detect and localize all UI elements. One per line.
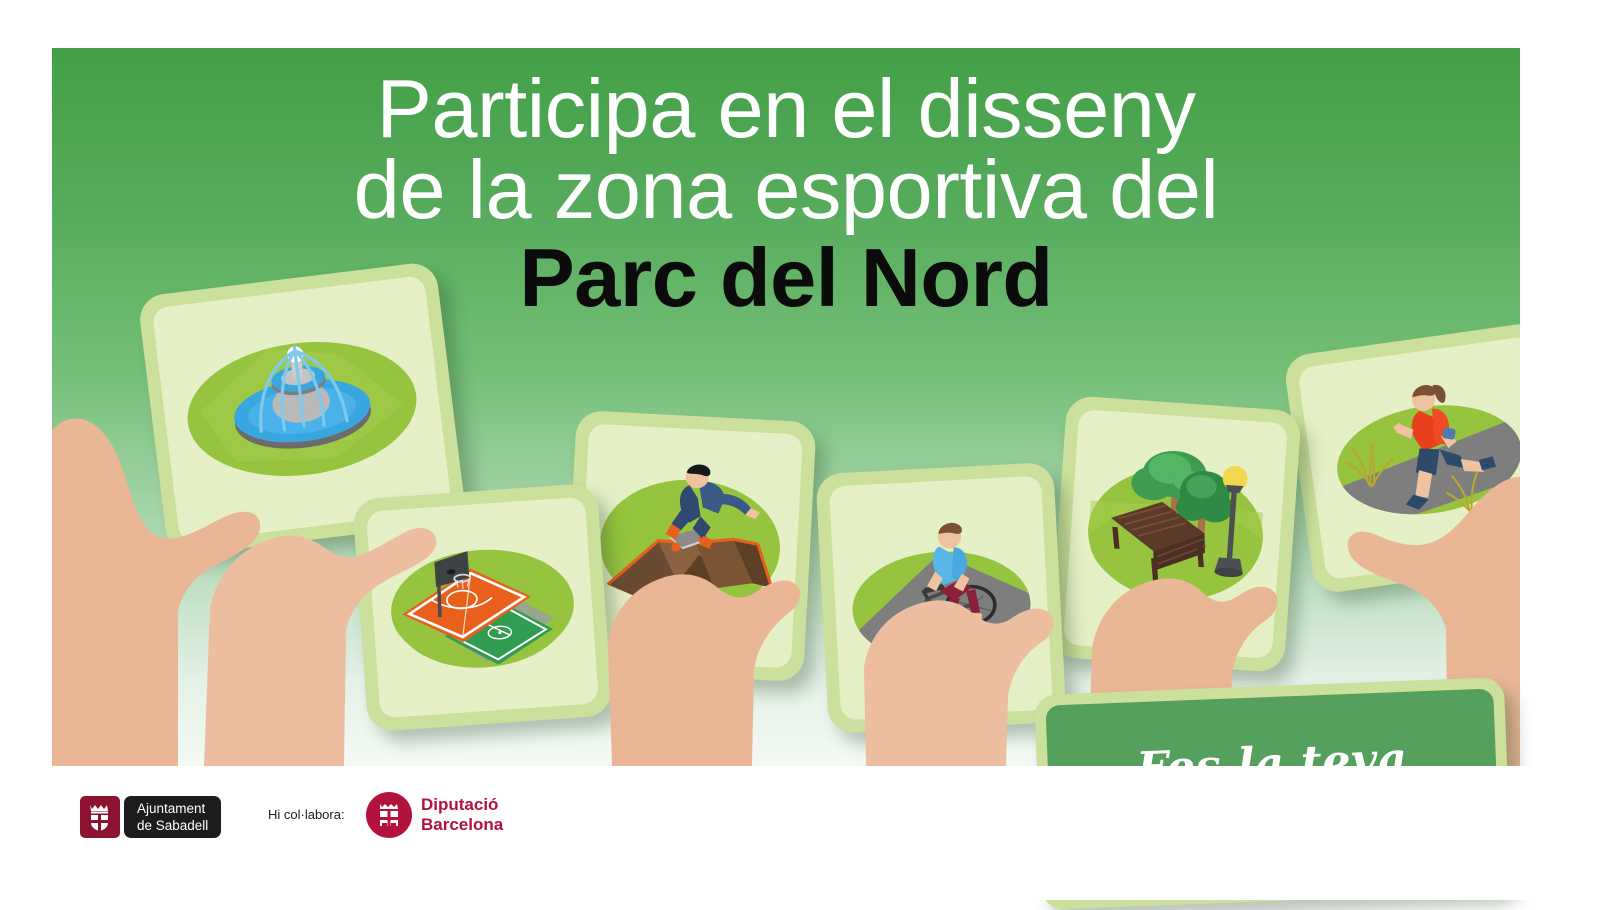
poster-canvas: Participa en el disseny de la zona espor… <box>0 0 1600 900</box>
diputacio-shield-icon <box>376 801 402 829</box>
collaborator-label: Hi col·labora: <box>268 807 345 822</box>
hand-bike <box>864 600 1054 766</box>
diputacio-line-2: Barcelona <box>421 815 503 835</box>
logo-ajuntament-sabadell[interactable]: Ajuntament de Sabadell <box>80 796 221 838</box>
footer-logos: Ajuntament de Sabadell Hi col·labora: Di… <box>0 766 1600 900</box>
hands-group <box>52 48 1520 766</box>
hand-skate <box>608 574 800 766</box>
sabadell-shield-icon <box>87 802 113 832</box>
sabadell-line-1: Ajuntament <box>137 800 208 817</box>
sabadell-line-2: de Sabadell <box>137 817 208 834</box>
hand-courts <box>204 528 436 766</box>
diputacio-line-1: Diputació <box>421 795 503 815</box>
logo-diputacio-barcelona[interactable]: Diputació Barcelona <box>366 792 503 838</box>
sabadell-crest-icon <box>80 796 120 838</box>
diputacio-name-block: Diputació Barcelona <box>421 795 503 835</box>
diputacio-crest-icon <box>366 792 412 838</box>
sabadell-name-block: Ajuntament de Sabadell <box>124 796 221 838</box>
poster-panel: Participa en el disseny de la zona espor… <box>52 48 1520 766</box>
